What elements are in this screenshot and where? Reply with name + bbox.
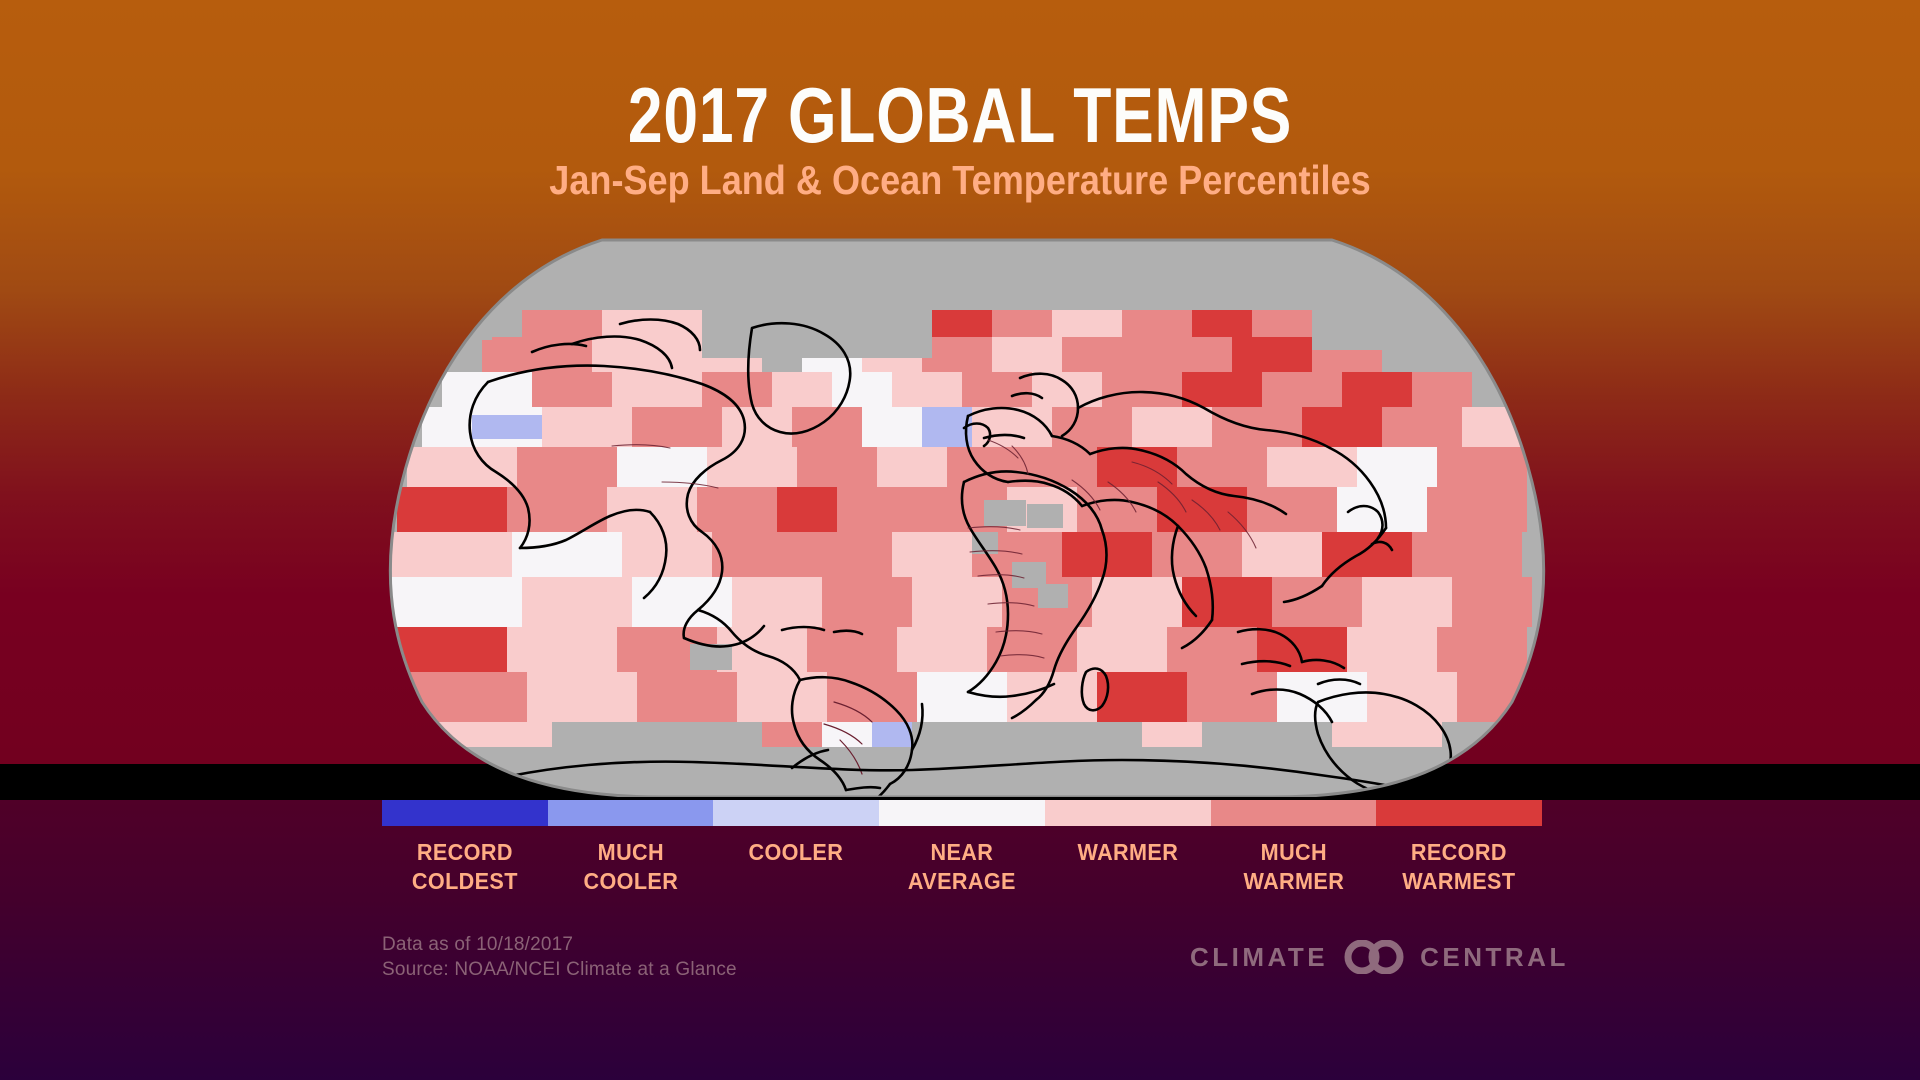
legend-label-record-coldest: RECORD COLDEST xyxy=(387,838,543,896)
legend-label-line1: COOLER xyxy=(718,838,874,867)
legend-label-line1: NEAR xyxy=(884,838,1040,867)
legend-label-line2: AVERAGE xyxy=(884,867,1040,896)
data-as-of-text: Data as of 10/18/2017 xyxy=(382,932,737,957)
logo-word-right: CENTRAL xyxy=(1420,942,1569,973)
page-title: 2017 GLOBAL TEMPS xyxy=(192,0,1728,152)
legend-swatch-much-cooler xyxy=(548,800,714,826)
legend-swatch-warmer xyxy=(1045,800,1211,826)
header: 2017 GLOBAL TEMPS Jan-Sep Land & Ocean T… xyxy=(0,0,1920,201)
legend-label-much-cooler: MUCH COOLER xyxy=(553,838,709,896)
legend-label-line1: MUCH xyxy=(1216,838,1372,867)
legend-swatch-near-average xyxy=(879,800,1045,826)
legend-swatch-record-warmest xyxy=(1376,800,1542,826)
legend-labels: RECORD COLDEST MUCH COOLER COOLER NEAR A… xyxy=(382,838,1542,896)
world-map xyxy=(372,232,1562,797)
legend-label-record-warmest: RECORD WARMEST xyxy=(1381,838,1537,896)
map-cells-group xyxy=(372,232,1562,797)
legend-label-cooler: COOLER xyxy=(718,838,874,896)
legend-label-line1: RECORD xyxy=(387,838,543,867)
legend-label-line2: COLDEST xyxy=(387,867,543,896)
legend-label-near-average: NEAR AVERAGE xyxy=(884,838,1040,896)
legend-swatch-record-coldest xyxy=(382,800,548,826)
infographic-root: 2017 GLOBAL TEMPS Jan-Sep Land & Ocean T… xyxy=(0,0,1920,1080)
legend-swatch-much-warmer xyxy=(1211,800,1377,826)
footer-attribution: Data as of 10/18/2017 Source: NOAA/NCEI … xyxy=(382,932,737,982)
legend-label-line1: MUCH xyxy=(553,838,709,867)
legend-swatch-cooler xyxy=(713,800,879,826)
climate-central-logo: CLIMATE CENTRAL xyxy=(1190,940,1569,974)
legend-label-line2: WARMEST xyxy=(1381,867,1537,896)
legend-label-line1: WARMER xyxy=(1050,838,1206,867)
source-text: Source: NOAA/NCEI Climate at a Glance xyxy=(382,957,737,982)
page-subtitle: Jan-Sep Land & Ocean Temperature Percent… xyxy=(115,152,1805,201)
legend-label-warmer: WARMER xyxy=(1050,838,1206,896)
legend-label-line2: COOLER xyxy=(553,867,709,896)
world-map-svg xyxy=(372,232,1562,797)
logo-word-left: CLIMATE xyxy=(1190,942,1328,973)
interlocking-rings-icon xyxy=(1342,940,1406,974)
legend-label-line2: WARMER xyxy=(1216,867,1372,896)
legend-color-bar xyxy=(382,800,1542,826)
legend-label-line1: RECORD xyxy=(1381,838,1537,867)
legend-label-much-warmer: MUCH WARMER xyxy=(1216,838,1372,896)
legend: RECORD COLDEST MUCH COOLER COOLER NEAR A… xyxy=(382,800,1542,896)
